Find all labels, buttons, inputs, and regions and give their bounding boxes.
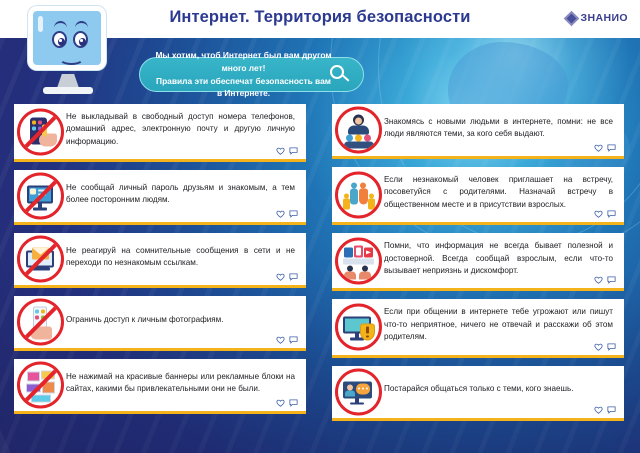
- heart-outline-icon[interactable]: [594, 210, 603, 218]
- card-reactions: [276, 210, 298, 218]
- speech-bubble-icon[interactable]: [289, 336, 298, 344]
- rule-text: Ограничь доступ к личным фотографиям.: [66, 314, 297, 326]
- heart-outline-icon[interactable]: [276, 210, 285, 218]
- heart-outline-icon[interactable]: [594, 144, 603, 152]
- unreliable-information-icon: [335, 237, 382, 284]
- rule-card: Не сообщай личный пароль друзьям и знако…: [14, 170, 306, 225]
- heart-outline-icon[interactable]: [276, 273, 285, 281]
- speech-bubble-icon[interactable]: [607, 144, 616, 152]
- family-meeting-icon: [335, 171, 382, 218]
- rules-column-right: Знакомясь с новыми людьми в интернете, п…: [332, 104, 624, 429]
- infographic-poster: Интернет. Территория безопасности ЗНАНИО…: [0, 0, 640, 453]
- tagline-line-1: Мы хотим, чтоб Интернет был вам другом м…: [154, 49, 333, 74]
- rule-card: Если незнакомый человек приглашает на вс…: [332, 167, 624, 225]
- rule-card: Не нажимай на красивые баннеры или рекла…: [14, 359, 306, 414]
- search-icon[interactable]: [330, 65, 351, 86]
- rule-text: Если незнакомый человек приглашает на вс…: [384, 174, 615, 211]
- rules-column-left: Не выкладывай в свободный доступ номера …: [14, 104, 306, 422]
- tagline-banner: Мы хотим, чтоб Интернет был вам другом м…: [139, 57, 364, 92]
- rule-text: Не сообщай личный пароль друзьям и знако…: [66, 182, 297, 207]
- card-reactions: [594, 276, 616, 284]
- card-reactions: [276, 336, 298, 344]
- heart-outline-icon[interactable]: [594, 343, 603, 351]
- rule-text: Не реагируй на сомнительные сообщения в …: [66, 245, 297, 270]
- rule-card: Не выкладывай в свободный доступ номера …: [14, 104, 306, 162]
- rule-text: Не нажимай на красивые баннеры или рекла…: [66, 371, 297, 396]
- chat-with-known-people-icon: [335, 368, 382, 415]
- rule-text: Если при общении в интернете тебе угрожа…: [384, 306, 615, 343]
- heart-outline-icon[interactable]: [276, 147, 285, 155]
- speech-bubble-icon[interactable]: [607, 343, 616, 351]
- card-reactions: [594, 144, 616, 152]
- speech-bubble-icon[interactable]: [289, 399, 298, 407]
- rule-card: Помни, что информация не всегда бывает п…: [332, 233, 624, 291]
- speech-bubble-icon[interactable]: [289, 210, 298, 218]
- rule-card: Ограничь доступ к личным фотографиям.: [14, 296, 306, 351]
- no-suspicious-messages-icon: [17, 236, 64, 283]
- rule-text: Постарайся общаться только с теми, кого …: [384, 383, 615, 395]
- heart-outline-icon[interactable]: [276, 399, 285, 407]
- no-banner-ads-icon: [17, 362, 64, 409]
- rule-card: Знакомясь с новыми людьми в интернете, п…: [332, 104, 624, 159]
- no-personal-photos-icon: [17, 299, 64, 346]
- tagline-line-2: Правила эти обеспечат безопасность вам в…: [154, 75, 333, 100]
- card-reactions: [276, 399, 298, 407]
- rule-card: Не реагируй на сомнительные сообщения в …: [14, 233, 306, 288]
- speech-bubble-icon[interactable]: [607, 210, 616, 218]
- card-reactions: [276, 147, 298, 155]
- diamond-logo-icon: [563, 10, 579, 26]
- speech-bubble-icon[interactable]: [607, 276, 616, 284]
- brand-name: ЗНАНИО: [581, 12, 628, 24]
- no-password-sharing-icon: [17, 173, 64, 220]
- rule-card: Постарайся общаться только с теми, кого …: [332, 366, 624, 421]
- heart-outline-icon[interactable]: [594, 276, 603, 284]
- smiling-monitor-mascot-icon: [22, 6, 112, 102]
- brand-logo: ЗНАНИО: [566, 12, 628, 24]
- rule-text: Помни, что информация не всегда бывает п…: [384, 240, 615, 277]
- heart-outline-icon[interactable]: [594, 406, 603, 414]
- card-reactions: [594, 406, 616, 414]
- card-reactions: [276, 273, 298, 281]
- speech-bubble-icon[interactable]: [289, 147, 298, 155]
- online-threats-warning-icon: [335, 304, 382, 351]
- speech-bubble-icon[interactable]: [607, 406, 616, 414]
- heart-outline-icon[interactable]: [276, 336, 285, 344]
- rule-text: Не выкладывай в свободный доступ номера …: [66, 111, 297, 148]
- speech-bubble-icon[interactable]: [289, 273, 298, 281]
- card-reactions: [594, 343, 616, 351]
- strangers-online-icon: [335, 107, 382, 154]
- rule-card: Если при общении в интернете тебе угрожа…: [332, 299, 624, 357]
- card-reactions: [594, 210, 616, 218]
- rule-text: Знакомясь с новыми людьми в интернете, п…: [384, 116, 615, 141]
- no-phone-personal-data-icon: [17, 108, 64, 155]
